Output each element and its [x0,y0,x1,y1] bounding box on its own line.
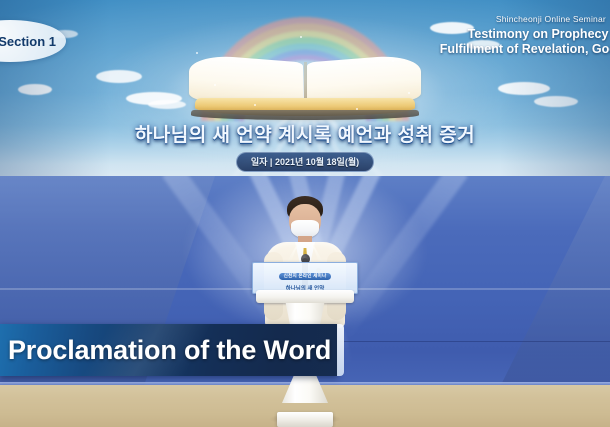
seminar-kicker: Shincheonji Online Seminar [440,14,610,24]
podium-sign-tag: 신천지 온라인 세미나 [279,273,332,280]
podium-top [256,290,354,303]
seminar-header: Shincheonji Online Seminar Testimony on … [440,14,610,56]
lower-third-text: Proclamation of the Word [0,335,331,366]
seminar-title-line1: Testimony on Prophecy and [440,27,610,41]
open-book-icon [187,58,423,120]
sparkle [392,60,394,62]
seminar-title-line2: Fulfillment of Revelation, God's Word [440,42,610,56]
cloud [148,100,186,109]
screen-title-block: 하나님의 새 언약 계시록 예언과 성취 증거 일자 | 2021년 10월 1… [0,120,610,172]
screen-date-pill: 일자 | 2021년 10월 18일(월) [236,152,374,172]
sparkle [214,84,216,86]
sparkle [196,52,198,54]
sparkle [408,92,410,94]
lower-third-banner: Proclamation of the Word [0,324,338,376]
cloud [498,82,550,95]
cloud [534,96,578,107]
lower-third-end-cap [337,324,344,376]
sparkle [300,36,302,38]
podium-base [277,412,333,427]
sparkle [254,104,256,106]
cloud [96,70,142,83]
cloud [18,84,52,95]
broadcast-frame: 하나님의 새 언약 계시록 예언과 성취 증거 일자 | 2021년 10월 1… [0,0,610,427]
sparkle [356,108,358,110]
screen-title-korean: 하나님의 새 언약 계시록 예언과 성취 증거 [135,120,475,147]
section-badge-label: Section 1 [0,34,56,49]
